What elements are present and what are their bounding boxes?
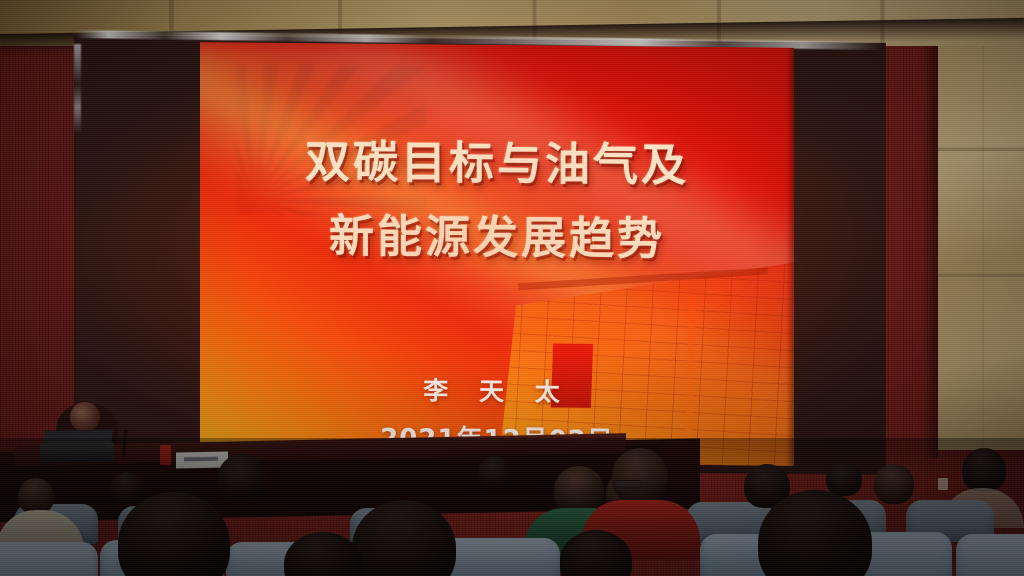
eyeglasses-icon: [614, 480, 642, 488]
audience-head: [612, 448, 668, 504]
photo-scene: 双碳目标与油气及 新能源发展趋势 李 天 太 2021年12月02日: [0, 0, 1024, 576]
audience-chair: [438, 538, 560, 576]
audience-chair: [0, 542, 98, 576]
slide-speaker-name: 李 天 太: [200, 369, 794, 411]
audience-chair: [956, 534, 1024, 576]
slide-title-line-1: 双碳目标与油气及: [200, 124, 794, 195]
audience-head: [110, 472, 144, 504]
slide-text-block: 双碳目标与油气及 新能源发展趋势 李 天 太 2021年12月02日: [200, 42, 794, 466]
audience-area: [0, 438, 1024, 576]
wall-shadow-edge: [922, 38, 938, 458]
audience-head: [554, 466, 604, 514]
screen-left-highlight: [74, 44, 81, 134]
audience-head: [478, 456, 512, 488]
audience-head: [826, 462, 862, 496]
presentation-slide: 双碳目标与油气及 新能源发展趋势 李 天 太 2021年12月02日: [200, 42, 794, 466]
right-stone-wall-panel: [938, 30, 1024, 450]
audience-head: [874, 464, 914, 504]
audience-head: [218, 454, 266, 500]
presenter-head: [70, 402, 100, 432]
audience-head-foreground: [118, 492, 230, 576]
audience-head: [18, 478, 54, 514]
audience-head: [962, 448, 1006, 492]
slide-title-line-2: 新能源发展趋势: [200, 198, 794, 269]
